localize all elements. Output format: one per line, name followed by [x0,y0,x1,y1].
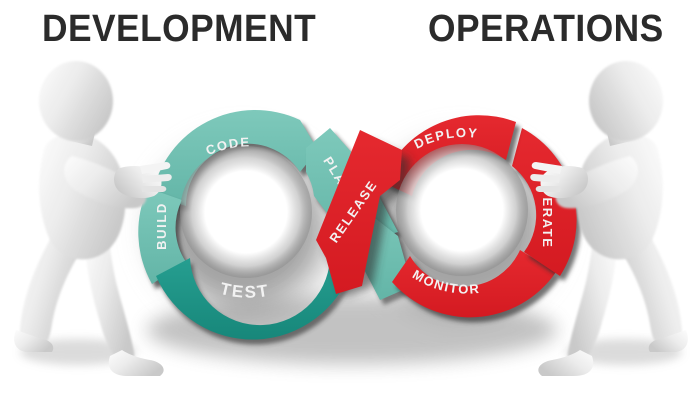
diagram-canvas: CODE BUILD TEST PLAN [0,0,700,400]
segment-label-build: BUILD [154,202,169,250]
devops-infinity-diagram: DEVELOPMENT OPERATIONS [0,0,700,400]
